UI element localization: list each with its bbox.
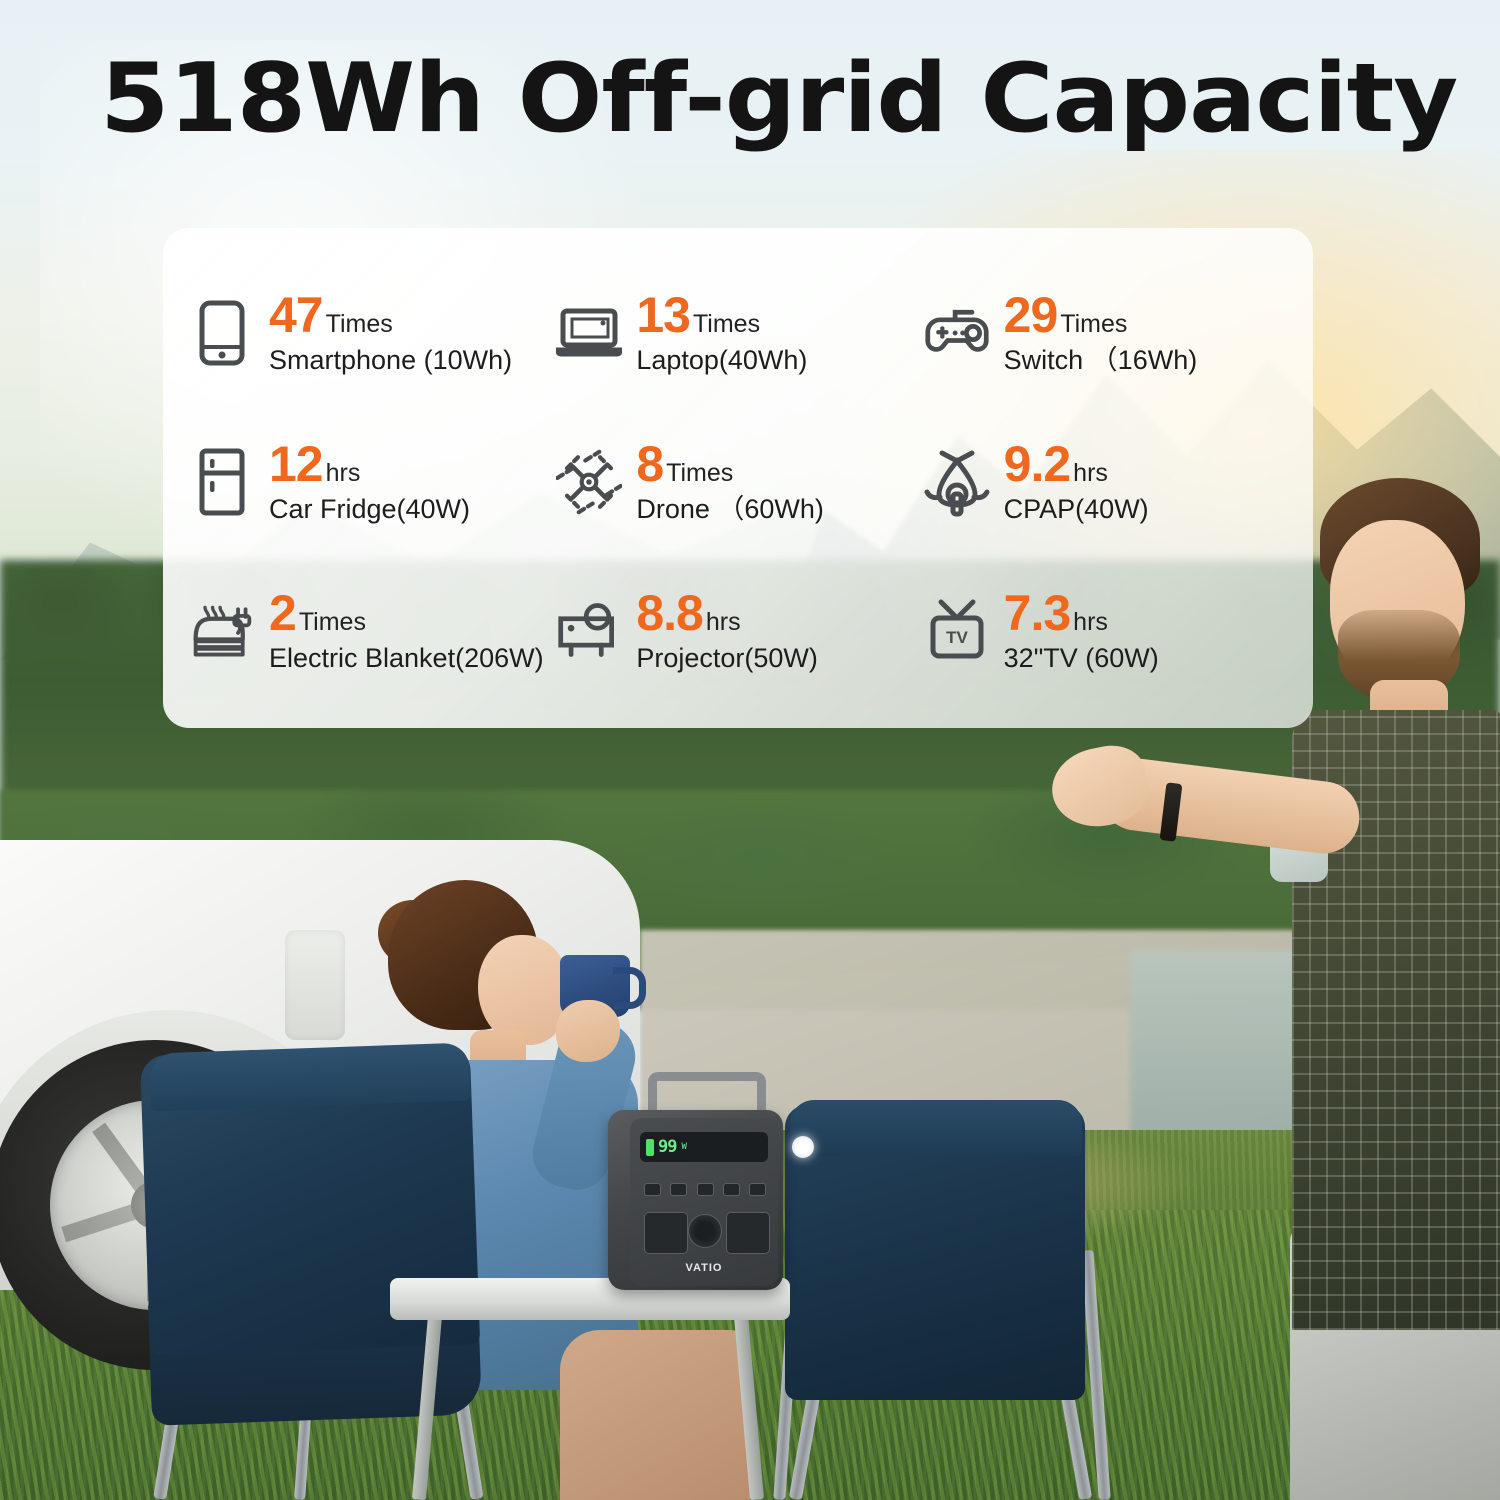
power-station-display-unit: W [681, 1143, 686, 1152]
projector-icon [556, 595, 622, 667]
stat-value: 7.3 [1004, 588, 1071, 638]
stat-unit: Times [326, 312, 393, 337]
usb-port-icon [670, 1183, 687, 1196]
stat-label: Laptop(40Wh) [636, 346, 807, 376]
usb-c-port-icon [697, 1183, 714, 1196]
stat-label: CPAP(40W) [1004, 495, 1149, 525]
stat-unit: hrs [706, 610, 741, 635]
stat-unit: hrs [1073, 461, 1108, 486]
tv-icon: TV [924, 595, 990, 667]
capacity-stats-panel: 47 Times Smartphone (10Wh) 13 [163, 228, 1313, 728]
stat-value: 2 [269, 588, 296, 638]
stat-item-tv: TV 7.3 hrs 32"TV (60W) [924, 557, 1291, 706]
stat-unit: Times [1060, 312, 1127, 337]
stat-item-projector: 8.8 hrs Projector(50W) [556, 557, 923, 706]
stat-label: Smartphone (10Wh) [269, 346, 512, 376]
suv-taillight [285, 930, 345, 1040]
dc-port-icon [749, 1183, 766, 1196]
power-station-port-row [644, 1178, 766, 1200]
stat-label: Projector(50W) [636, 644, 818, 674]
svg-text:TV: TV [946, 628, 968, 647]
led-light [792, 1136, 814, 1158]
stat-label: Switch （16Wh) [1004, 346, 1198, 376]
battery-level-icon [646, 1139, 654, 1156]
ac-outlet-left [644, 1212, 688, 1254]
dc-port-icon [723, 1183, 740, 1196]
stat-unit: hrs [1073, 610, 1108, 635]
page-title: 518Wh Off-grid Capacity [100, 52, 1486, 147]
stat-value: 12 [269, 439, 323, 489]
woman-legs [560, 1330, 750, 1500]
laptop-icon [556, 297, 622, 369]
background-photo: 99 W VATIO [0, 0, 1500, 1500]
stat-value: 8.8 [636, 588, 703, 638]
stat-value: 8 [636, 439, 663, 489]
smartphone-icon [189, 297, 255, 369]
stat-label: 32"TV (60W) [1004, 644, 1159, 674]
stat-value: 29 [1004, 290, 1058, 340]
fridge-icon [189, 446, 255, 518]
power-station-display: 99 W [640, 1132, 768, 1162]
ac-outlet-right [726, 1212, 770, 1254]
stat-value: 13 [636, 290, 690, 340]
drone-icon [556, 446, 622, 518]
gamepad-icon [924, 297, 990, 369]
stat-unit: Times [666, 461, 733, 486]
stat-unit: Times [299, 610, 366, 635]
woman-hand [556, 1000, 620, 1062]
stat-item-laptop: 13 Times Laptop(40Wh) [556, 258, 923, 407]
stat-label: Electric Blanket(206W) [269, 644, 544, 674]
stat-item-cpap: 9.2 hrs CPAP(40W) [924, 407, 1291, 556]
dc-car-socket [688, 1214, 722, 1248]
stat-item-smartphone: 47 Times Smartphone (10Wh) [189, 258, 556, 407]
stat-unit: hrs [326, 461, 361, 486]
stat-value: 47 [269, 290, 323, 340]
usb-port-icon [644, 1183, 661, 1196]
stat-item-car-fridge: 12 hrs Car Fridge(40W) [189, 407, 556, 556]
electric-blanket-icon [189, 595, 255, 667]
stat-label: Car Fridge(40W) [269, 495, 470, 525]
cpap-icon [924, 446, 990, 518]
stat-unit: Times [693, 312, 760, 337]
stat-item-switch: 29 Times Switch （16Wh) [924, 258, 1291, 407]
power-station-display-value: 99 [658, 1139, 676, 1156]
stat-value: 9.2 [1004, 439, 1071, 489]
chair-right-headrest [790, 1100, 1082, 1156]
stat-item-electric-blanket: 2 Times Electric Blanket(206W) [189, 557, 556, 706]
stat-label: Drone （60Wh) [636, 495, 824, 525]
chair-left-headrest [149, 1042, 471, 1111]
stats-grid: 47 Times Smartphone (10Wh) 13 [163, 228, 1313, 728]
stat-item-drone: 8 Times Drone （60Wh) [556, 407, 923, 556]
power-station-brand: VATIO [630, 1262, 778, 1274]
